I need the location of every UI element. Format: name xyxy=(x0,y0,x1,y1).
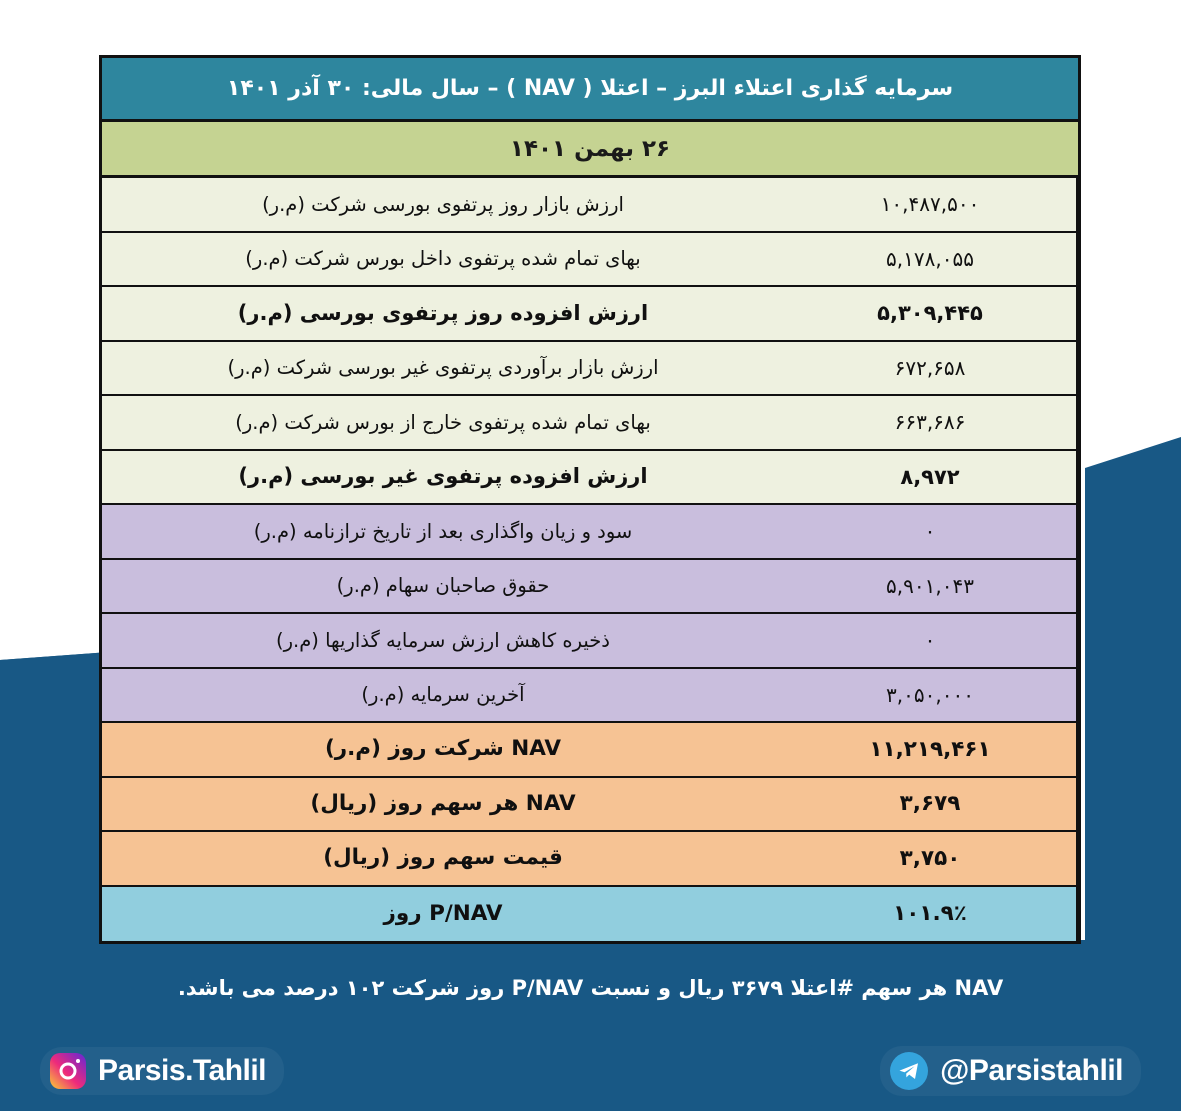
table-row: ۱۱,۲۱۹,۴۶۱NAV شرکت روز (م.ر) xyxy=(102,723,1078,778)
table-row: ۵,۹۰۱,۰۴۳حقوق صاحبان سهام (م.ر) xyxy=(102,560,1078,615)
table-cell-value: ۵,۹۰۱,۰۴۳ xyxy=(784,560,1078,613)
table-cell-value: ۸,۹۷۲ xyxy=(784,451,1078,504)
table-cell-label: حقوق صاحبان سهام (م.ر) xyxy=(102,560,784,613)
table-row: ۶۶۳,۶۸۶بهای تمام شده پرتفوی خارج از بورس… xyxy=(102,396,1078,451)
summary-caption: NAV هر سهم #اعتلا ۳۶۷۹ ریال و نسبت P/NAV… xyxy=(0,960,1181,1016)
table-row: ۰ذخیره کاهش ارزش سرمایه گذاریها (م.ر) xyxy=(102,614,1078,669)
table-row: ۵,۳۰۹,۴۴۵ارزش افزوده روز پرتفوی بورسی (م… xyxy=(102,287,1078,342)
table-row: ۸,۹۷۲ارزش افزوده پرتفوی غیر بورسی (م.ر) xyxy=(102,451,1078,506)
table-cell-label: NAV شرکت روز (م.ر) xyxy=(102,723,784,776)
table-cell-label: P/NAV روز xyxy=(102,887,784,942)
table-cell-value: ۵,۱۷۸,۰۵۵ xyxy=(784,233,1078,286)
table-cell-value: ۱۰,۴۸۷,۵۰۰ xyxy=(784,178,1078,231)
table-cell-label: ارزش بازار روز پرتفوی بورسی شرکت (م.ر) xyxy=(102,178,784,231)
table-cell-label: ارزش افزوده روز پرتفوی بورسی (م.ر) xyxy=(102,287,784,340)
table-cell-value: ۶۶۳,۶۸۶ xyxy=(784,396,1078,449)
table-cell-label: NAV هر سهم روز (ریال) xyxy=(102,778,784,831)
table-row: ۱۰۱.۹٪P/NAV روز xyxy=(102,887,1078,942)
report-date-header: ۲۶ بهمن ۱۴۰۱ xyxy=(102,122,1078,178)
nav-table: ۱۰,۴۸۷,۵۰۰ارزش بازار روز پرتفوی بورسی شر… xyxy=(102,178,1078,941)
table-cell-value: ۰ xyxy=(784,505,1078,558)
table-cell-value: ۱۰۱.۹٪ xyxy=(784,887,1078,942)
nav-report-card: سرمایه گذاری اعتلاء البرز – اعتلا ( NAV … xyxy=(99,55,1081,944)
table-cell-label: بهای تمام شده پرتفوی داخل بورس شرکت (م.ر… xyxy=(102,233,784,286)
table-row: ۵,۱۷۸,۰۵۵بهای تمام شده پرتفوی داخل بورس … xyxy=(102,233,1078,288)
table-cell-value: ۱۱,۲۱۹,۴۶۱ xyxy=(784,723,1078,776)
table-cell-label: ذخیره کاهش ارزش سرمایه گذاریها (م.ر) xyxy=(102,614,784,667)
table-cell-value: ۵,۳۰۹,۴۴۵ xyxy=(784,287,1078,340)
table-cell-value: ۶۷۲,۶۵۸ xyxy=(784,342,1078,395)
table-cell-label: ارزش بازار برآوردی پرتفوی غیر بورسی شرکت… xyxy=(102,342,784,395)
instagram-icon xyxy=(50,1053,86,1089)
instagram-link[interactable]: Parsis.Tahlil xyxy=(40,1047,284,1095)
table-row: ۳,۰۵۰,۰۰۰آخرین سرمایه (م.ر) xyxy=(102,669,1078,724)
instagram-handle: Parsis.Tahlil xyxy=(98,1054,266,1088)
table-cell-value: ۳,۷۵۰ xyxy=(784,832,1078,885)
table-row: ۳,۶۷۹NAV هر سهم روز (ریال) xyxy=(102,778,1078,833)
table-cell-label: سود و زیان واگذاری بعد از تاریخ ترازنامه… xyxy=(102,505,784,558)
table-row: ۳,۷۵۰قیمت سهم روز (ریال) xyxy=(102,832,1078,887)
table-cell-value: ۳,۶۷۹ xyxy=(784,778,1078,831)
table-row: ۶۷۲,۶۵۸ارزش بازار برآوردی پرتفوی غیر بور… xyxy=(102,342,1078,397)
page-title: سرمایه گذاری اعتلاء البرز – اعتلا ( NAV … xyxy=(102,58,1078,122)
table-cell-label: قیمت سهم روز (ریال) xyxy=(102,832,784,885)
table-cell-value: ۳,۰۵۰,۰۰۰ xyxy=(784,669,1078,722)
table-cell-label: بهای تمام شده پرتفوی خارج از بورس شرکت (… xyxy=(102,396,784,449)
table-cell-value: ۰ xyxy=(784,614,1078,667)
table-cell-label: آخرین سرمایه (م.ر) xyxy=(102,669,784,722)
telegram-handle: @Parsistahlil xyxy=(940,1054,1123,1088)
table-cell-label: ارزش افزوده پرتفوی غیر بورسی (م.ر) xyxy=(102,451,784,504)
table-row: ۱۰,۴۸۷,۵۰۰ارزش بازار روز پرتفوی بورسی شر… xyxy=(102,178,1078,233)
telegram-icon xyxy=(890,1052,928,1090)
footer-bar: Parsis.Tahlil @Parsistahlil xyxy=(0,1030,1181,1111)
table-row: ۰سود و زیان واگذاری بعد از تاریخ ترازنام… xyxy=(102,505,1078,560)
telegram-link[interactable]: @Parsistahlil xyxy=(880,1046,1141,1096)
